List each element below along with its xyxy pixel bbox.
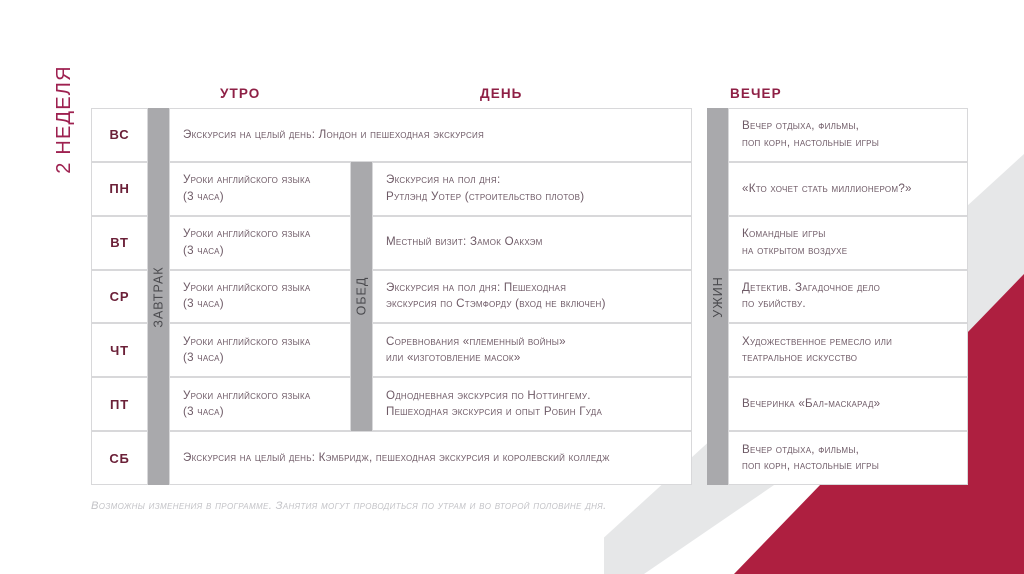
day-cell: ПН bbox=[91, 162, 148, 216]
activity-cell-evening: «Кто хочет стать миллионером?» bbox=[728, 162, 968, 216]
day-label: ПТ bbox=[110, 397, 129, 412]
day-cell: ПТ bbox=[91, 377, 148, 431]
activity-cell-afternoon: Местный визит: Замок Оакхэм bbox=[372, 216, 692, 270]
activity-text: Детектив. Загадочное дело по убийству. bbox=[742, 280, 954, 313]
activity-cell-evening: Вечеринка «Бал-маскарад» bbox=[728, 377, 968, 431]
day-cell: ВТ bbox=[91, 216, 148, 270]
table-row: ВТ Уроки английского языка (3 часа) Мест… bbox=[91, 216, 968, 270]
day-label: СБ bbox=[109, 451, 129, 466]
activity-text: Художественное ремесло или театральное и… bbox=[742, 334, 954, 367]
week-title: 2 НЕДЕЛЯ bbox=[49, 108, 79, 358]
column-header-evening: ВЕЧЕР bbox=[730, 86, 782, 101]
activity-text: Экскурсия на пол дня: Пешеходная экскурс… bbox=[386, 280, 678, 313]
activity-text: Уроки английского языка (3 часа) bbox=[183, 334, 337, 367]
day-cell: ЧТ bbox=[91, 323, 148, 377]
footer-note: Возможны изменения в программе. Занятия … bbox=[91, 500, 607, 512]
table-row: ЧТ Уроки английского языка (3 часа) Соре… bbox=[91, 323, 968, 377]
activity-cell-evening: Художественное ремесло или театральное и… bbox=[728, 323, 968, 377]
day-label: ВС bbox=[110, 127, 130, 142]
activity-text: Экскурсия на пол дня: Рутлэнд Уотер (стр… bbox=[386, 172, 678, 205]
day-label: ЧТ bbox=[110, 343, 129, 358]
activity-cell-evening: Вечер отдыха, фильмы, поп корн, настольн… bbox=[728, 108, 968, 162]
activity-text: Вечер отдыха, фильмы, поп корн, настольн… bbox=[742, 442, 954, 475]
activity-cell-afternoon: Экскурсия на пол дня: Пешеходная экскурс… bbox=[372, 270, 692, 324]
table-row: ПН Уроки английского языка (3 часа) Экск… bbox=[91, 162, 968, 216]
day-label: ВТ bbox=[110, 235, 128, 250]
activity-text: Вечер отдыха, фильмы, поп корн, настольн… bbox=[742, 118, 954, 151]
activity-text: «Кто хочет стать миллионером?» bbox=[742, 181, 954, 198]
schedule-table: ВС Экскурсия на целый день: Лондон и пеш… bbox=[91, 108, 968, 485]
activity-cell-allday: Экскурсия на целый день: Лондон и пешехо… bbox=[169, 108, 692, 162]
day-label: СР bbox=[110, 289, 130, 304]
day-label: ПН bbox=[109, 181, 129, 196]
activity-cell-evening: Детектив. Загадочное дело по убийству. bbox=[728, 270, 968, 324]
meal-bar-dinner: УЖИН bbox=[707, 108, 728, 485]
meal-bar-lunch: ОБЕД bbox=[351, 162, 372, 431]
activity-text: Экскурсия на целый день: Кэмбридж, пешех… bbox=[183, 450, 678, 467]
column-header-morning: УТРО bbox=[220, 86, 260, 101]
activity-text: Уроки английского языка (3 часа) bbox=[183, 280, 337, 313]
table-row: СР Уроки английского языка (3 часа) Экск… bbox=[91, 270, 968, 324]
table-row: ВС Экскурсия на целый день: Лондон и пеш… bbox=[91, 108, 968, 162]
meal-label-breakfast: ЗАВТРАК bbox=[152, 266, 166, 327]
activity-cell-morning: Уроки английского языка (3 часа) bbox=[169, 377, 351, 431]
activity-text: Однодневная экскурсия по Ноттингему. Пеш… bbox=[386, 388, 678, 421]
day-cell: ВС bbox=[91, 108, 148, 162]
activity-cell-morning: Уроки английского языка (3 часа) bbox=[169, 270, 351, 324]
activity-text: Командные игры на открытом воздухе bbox=[742, 226, 954, 259]
activity-cell-morning: Уроки английского языка (3 часа) bbox=[169, 162, 351, 216]
activity-text: Вечеринка «Бал-маскарад» bbox=[742, 396, 954, 413]
meal-label-dinner: УЖИН bbox=[711, 276, 725, 318]
activity-cell-afternoon: Однодневная экскурсия по Ноттингему. Пеш… bbox=[372, 377, 692, 431]
table-row: СБ Экскурсия на целый день: Кэмбридж, пе… bbox=[91, 431, 968, 485]
schedule-slide: 2 НЕДЕЛЯ УТРО ДЕНЬ ВЕЧЕР ВС Экскурсия на… bbox=[0, 0, 1024, 574]
activity-cell-evening: Вечер отдыха, фильмы, поп корн, настольн… bbox=[728, 431, 968, 485]
activity-cell-morning: Уроки английского языка (3 часа) bbox=[169, 216, 351, 270]
day-cell: СР bbox=[91, 270, 148, 324]
activity-text: Экскурсия на целый день: Лондон и пешехо… bbox=[183, 127, 678, 144]
activity-cell-morning: Уроки английского языка (3 часа) bbox=[169, 323, 351, 377]
meal-bar-breakfast: ЗАВТРАК bbox=[148, 108, 169, 485]
meal-label-lunch: ОБЕД bbox=[355, 277, 369, 316]
activity-text: Местный визит: Замок Оакхэм bbox=[386, 234, 678, 251]
week-title-text: 2 НЕДЕЛЯ bbox=[53, 65, 76, 174]
activity-text: Соревнования «племенный войны» или «изго… bbox=[386, 334, 678, 367]
day-cell: СБ bbox=[91, 431, 148, 485]
activity-cell-afternoon: Соревнования «племенный войны» или «изго… bbox=[372, 323, 692, 377]
activity-cell-allday: Экскурсия на целый день: Кэмбридж, пешех… bbox=[169, 431, 692, 485]
activity-text: Уроки английского языка (3 часа) bbox=[183, 172, 337, 205]
activity-text: Уроки английского языка (3 часа) bbox=[183, 388, 337, 421]
activity-text: Уроки английского языка (3 часа) bbox=[183, 226, 337, 259]
activity-cell-afternoon: Экскурсия на пол дня: Рутлэнд Уотер (стр… bbox=[372, 162, 692, 216]
column-header-day: ДЕНЬ bbox=[480, 86, 522, 101]
table-row: ПТ Уроки английского языка (3 часа) Одно… bbox=[91, 377, 968, 431]
activity-cell-evening: Командные игры на открытом воздухе bbox=[728, 216, 968, 270]
